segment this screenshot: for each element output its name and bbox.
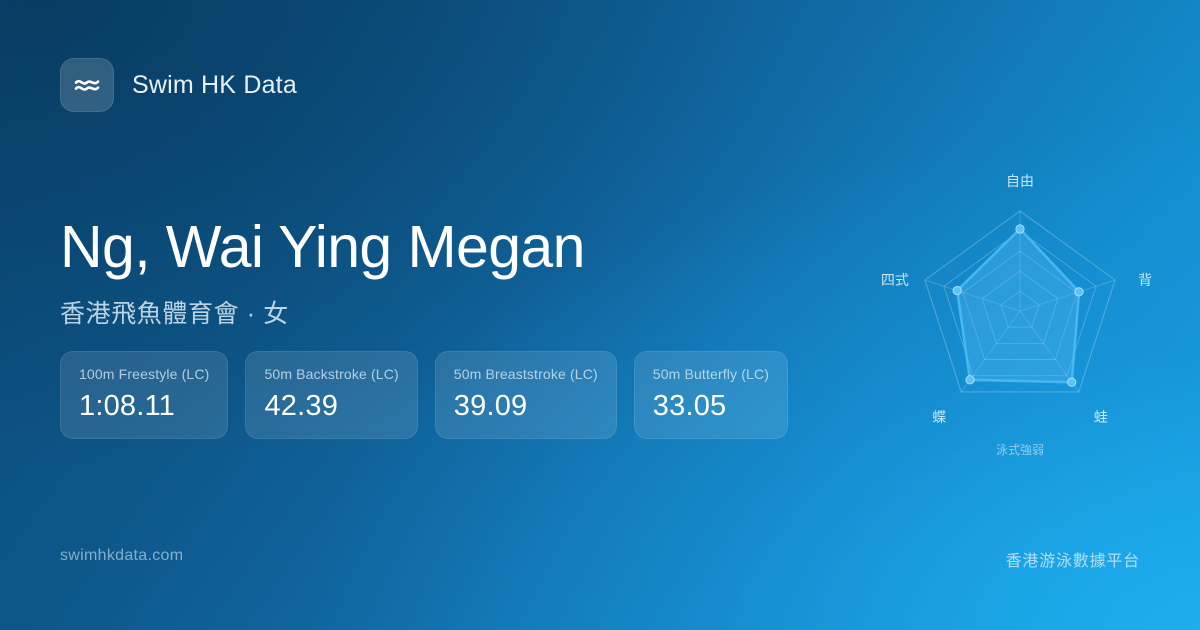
footer-tagline: 香港游泳數據平台 [1006,547,1140,571]
radar-axis-label: 蛙 [1094,410,1108,426]
radar-data-point [966,376,974,384]
athlete-hero: Ng, Wai Ying Megan 香港飛魚體育會 · 女 [60,216,820,330]
stat-card-label: 100m Freestyle (LC) [79,367,209,381]
stat-card-value: 1:08.11 [79,392,209,421]
radar-axis-label: 背 [1138,273,1152,289]
stat-card: 100m Freestyle (LC) 1:08.11 [60,351,228,439]
radar-data-point [953,286,961,294]
stat-card-label: 50m Butterfly (LC) [653,367,769,381]
stat-card: 50m Breaststroke (LC) 39.09 [435,351,617,439]
stat-card-label: 50m Breaststroke (LC) [454,367,598,381]
stat-card-list: 100m Freestyle (LC) 1:08.11 50m Backstro… [60,351,788,439]
radar-data-point [1016,225,1024,233]
footer-site-url: swimhkdata.com [60,547,183,565]
radar-data-area [957,229,1079,382]
page-title: Ng, Wai Ying Megan [60,216,820,279]
radar-axis-label: 蝶 [932,410,946,426]
athlete-meta: 香港飛魚體育會 · 女 [60,294,820,330]
stat-card: 50m Butterfly (LC) 33.05 [634,351,788,439]
social-share-card: Swim HK Data Ng, Wai Ying Megan 香港飛魚體育會 … [0,0,1200,630]
radar-axis-label: 四式 [881,273,909,289]
radar-data-point [1068,378,1076,386]
brand-name: Swim HK Data [132,71,297,100]
wave-approx-icon [60,58,114,112]
brand-header: Swim HK Data [60,58,297,112]
stat-card-value: 39.09 [454,392,598,421]
stat-card-label: 50m Backstroke (LC) [264,367,398,381]
stroke-strength-radar-chart: 自由背蛙蝶四式 泳式強弱 [860,168,1180,468]
radar-axis-label: 自由 [1006,174,1034,190]
radar-data-point [1075,288,1083,296]
stat-card: 50m Backstroke (LC) 42.39 [245,351,417,439]
radar-caption: 泳式強弱 [996,443,1044,457]
stat-card-value: 42.39 [264,392,398,421]
stat-card-value: 33.05 [653,392,769,421]
